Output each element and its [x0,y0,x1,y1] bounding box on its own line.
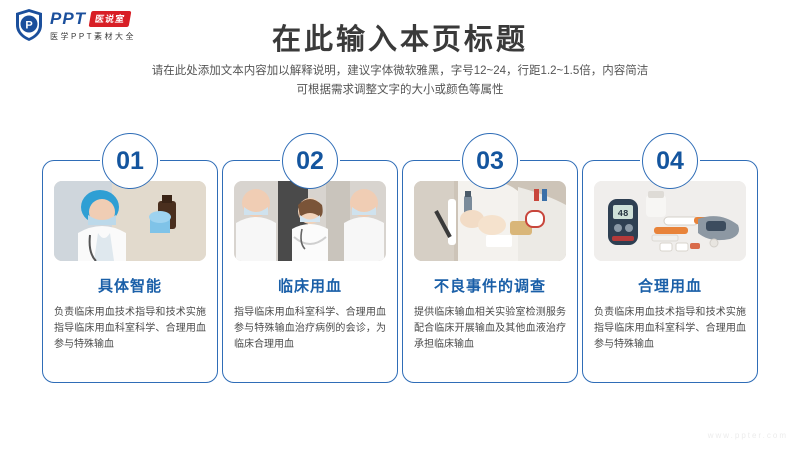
card-03[interactable]: 03 [402,160,578,383]
page-title: 在此输入本页标题 [0,16,800,58]
card-number-badge: 04 [642,133,698,189]
glucose-reading: 48 [618,209,629,219]
card-01[interactable]: 01 具体智能 负责临床用 [42,160,218,383]
card-body: 指导临床用血科室科学、合理用血参与特殊输血治疗病例的会诊，为临床合理用血 [234,305,386,353]
card-title: 具体智能 [98,275,162,296]
slide-root: P PPT 医说室 医学PPT素材大全 在此输入本页标题 请在此处添加文本内容加… [0,0,800,450]
card-title: 合理用血 [638,275,702,296]
site-watermark: www.ppter.com [708,431,788,440]
card-body: 负责临床用血技术指导和技术实施指导临床用血科室科学、合理用血参与特殊输血 [594,305,746,353]
card-02[interactable]: 02 [222,160,398,383]
card-body: 提供临床输血相关实验室检测服务配合临床开展输血及其他血液治疗承担临床输血 [414,305,566,353]
card-row: 01 具体智能 负责临床用 [42,160,758,385]
card-body: 负责临床用血技术指导和技术实施指导临床用血科室科学、合理用血参与特殊输血 [54,305,206,353]
card-number-badge: 01 [102,133,158,189]
card-title: 临床用血 [278,275,342,296]
photo-glucose-meter-kit: 48 [594,181,746,261]
card-04[interactable]: 04 48 [582,160,758,383]
card-title: 不良事件的调查 [434,275,546,296]
page-subtitle-line-2: 可根据需求调整文字的大小或颜色等属性 [100,81,700,100]
card-number-badge: 03 [462,133,518,189]
photo-lab-technician-flask [54,181,206,261]
photo-three-doctors-masked [234,181,386,261]
photo-doctor-pipette [414,181,566,261]
card-number-badge: 02 [282,133,338,189]
page-subtitle: 请在此处添加文本内容加以解释说明，建议字体微软雅黑，字号12~24，行距1.2~… [100,62,700,100]
page-subtitle-line-1: 请在此处添加文本内容加以解释说明，建议字体微软雅黑，字号12~24，行距1.2~… [100,62,700,81]
